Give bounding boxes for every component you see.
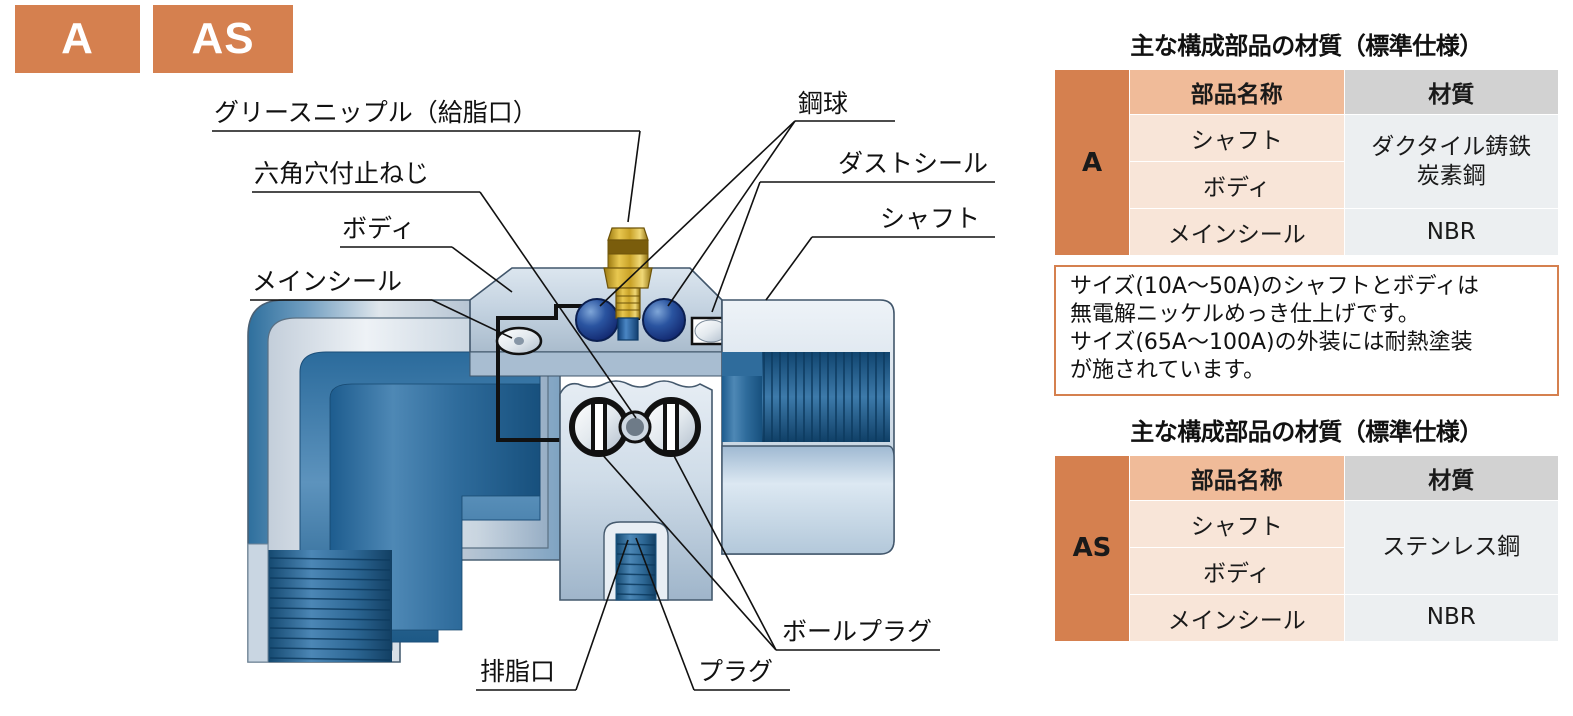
- main-seal-part: [497, 328, 541, 354]
- callout-grease-nipple: グリースニップル（給脂口）: [214, 93, 538, 129]
- cell-part-main-seal: メインシール: [1130, 209, 1345, 256]
- header-material: 材質: [1344, 455, 1559, 500]
- materials-panel: 主な構成部品の材質（標準仕様） A 部品名称 材質 シャフト ダクタイル鋳鉄 炭…: [1040, 0, 1573, 716]
- material-line-1: ダクタイル鋳鉄: [1346, 133, 1558, 162]
- header-part-name: 部品名称: [1130, 70, 1345, 115]
- table-row: メインシール NBR: [1055, 594, 1559, 641]
- cell-part-shaft: シャフト: [1130, 115, 1345, 162]
- cell-part-main-seal: メインシール: [1130, 594, 1345, 641]
- header-material: 材質: [1344, 70, 1559, 115]
- ball-plug-right: [644, 400, 698, 454]
- table-row: メインシール NBR: [1055, 209, 1559, 256]
- table-row: シャフト ステンレス鋼: [1055, 500, 1559, 547]
- table-row: シャフト ダクタイル鋳鉄 炭素鋼: [1055, 115, 1559, 162]
- page-root: A AS: [0, 0, 1573, 716]
- callout-ball-plug: ボールプラグ: [782, 612, 932, 648]
- note-line-3: サイズ(65A～100A)の外装には耐熱塗装: [1070, 329, 1547, 357]
- header-part-name: 部品名称: [1130, 455, 1345, 500]
- callout-body: ボディ: [342, 209, 415, 245]
- note-line-2: 無電解ニッケルめっき仕上げです。: [1070, 301, 1547, 329]
- valve-cross-section-diagram: グリースニップル（給脂口） 六角穴付止ねじ ボディ メインシール 鋼球 ダストシ…: [0, 0, 1035, 716]
- grade-cell-as: AS: [1055, 455, 1130, 641]
- plug-part: [604, 522, 668, 600]
- cell-part-shaft: シャフト: [1130, 500, 1345, 547]
- callout-hex-socket-set-screw: 六角穴付止ねじ: [254, 154, 429, 190]
- table-a-title: 主な構成部品の材質（標準仕様）: [1040, 26, 1573, 61]
- note-box: サイズ(10A～50A)のシャフトとボディは 無電解ニッケルめっき仕上げです。 …: [1054, 265, 1559, 396]
- cell-material-main-seal: NBR: [1344, 594, 1559, 641]
- callout-main-seal: メインシール: [252, 262, 402, 298]
- material-line-2: 炭素鋼: [1346, 162, 1558, 191]
- cell-material-shaft-body: ステンレス鋼: [1344, 500, 1559, 594]
- cell-material-main-seal: NBR: [1344, 209, 1559, 256]
- table-as-title: 主な構成部品の材質（標準仕様）: [1040, 412, 1573, 447]
- ball-plug-left: [572, 400, 626, 454]
- callout-grease-outlet: 排脂口: [480, 652, 555, 688]
- callout-plug: プラグ: [698, 652, 773, 688]
- elbow-thread-section: [248, 544, 392, 662]
- cell-part-body: ボディ: [1130, 547, 1345, 594]
- grade-cell-a: A: [1055, 70, 1130, 256]
- callout-dust-seal: ダストシール: [838, 144, 988, 180]
- cell-part-body: ボディ: [1130, 162, 1345, 209]
- materials-table-a: A 部品名称 材質 シャフト ダクタイル鋳鉄 炭素鋼 ボディ メインシール NB…: [1054, 69, 1559, 256]
- materials-table-as: AS 部品名称 材質 シャフト ステンレス鋼 ボディ メインシール NBR: [1054, 455, 1559, 642]
- callout-shaft: シャフト: [880, 199, 980, 235]
- table-row-header: AS 部品名称 材質: [1055, 455, 1559, 500]
- table-row-header: A 部品名称 材質: [1055, 70, 1559, 115]
- note-line-1: サイズ(10A～50A)のシャフトとボディは: [1070, 273, 1547, 301]
- shaft-part: [722, 300, 894, 554]
- callout-steel-ball: 鋼球: [798, 84, 848, 120]
- center-block: [560, 381, 712, 600]
- note-line-4: が施されています。: [1070, 357, 1547, 385]
- cell-material-shaft-body: ダクタイル鋳鉄 炭素鋼: [1344, 115, 1559, 209]
